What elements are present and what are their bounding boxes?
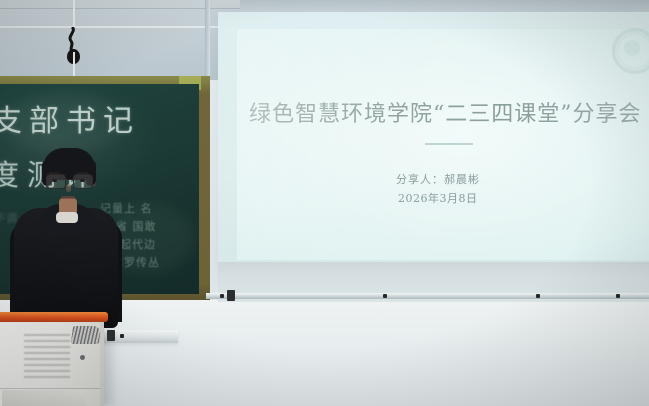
chalk-heading-primary: 支部书记 (0, 96, 140, 140)
eye-right (80, 179, 85, 182)
lectern-control-panel (24, 334, 70, 378)
glasses-bridge (65, 179, 73, 180)
slide-date-line: 2026年3月8日 (398, 190, 478, 206)
nose (66, 184, 71, 192)
lectern-top-trim (0, 312, 108, 322)
lectern-vent-grille (71, 326, 102, 344)
wall-top-strip (205, 0, 649, 12)
lectern-base (2, 390, 86, 406)
cable-tail (73, 52, 75, 78)
slide-divider (425, 143, 473, 145)
lectern-seam (0, 388, 100, 389)
inner-shirt-collar (56, 212, 78, 223)
rail-clip (383, 294, 387, 298)
lectern (0, 312, 108, 406)
rail-clip (616, 294, 620, 298)
whiteboard-rail (206, 293, 649, 299)
rail-clip (536, 294, 540, 298)
wall-seam-upper (0, 8, 240, 9)
eye-left (52, 179, 57, 182)
rail-marker-holder (227, 290, 235, 301)
rail-clip (220, 294, 224, 298)
back-wall-upper-left (0, 0, 240, 80)
lectern-knob (80, 355, 85, 360)
classroom-photo: 支部书记 度测评 背 不调 记量上 名 界省 国敢 王起代边 库罗传丛 绿色智慧… (0, 0, 649, 406)
ledge-screw (120, 334, 124, 338)
chalk-faint-left-1: 背 (0, 158, 6, 174)
mouth (61, 196, 75, 199)
wall-seam (0, 26, 240, 28)
presenter-person (14, 150, 124, 325)
slide-presenter-line: 分享人：郝晨彬 (396, 171, 480, 187)
slide-title: 绿色智慧环境学院“二三四课堂”分享会 (249, 96, 649, 128)
